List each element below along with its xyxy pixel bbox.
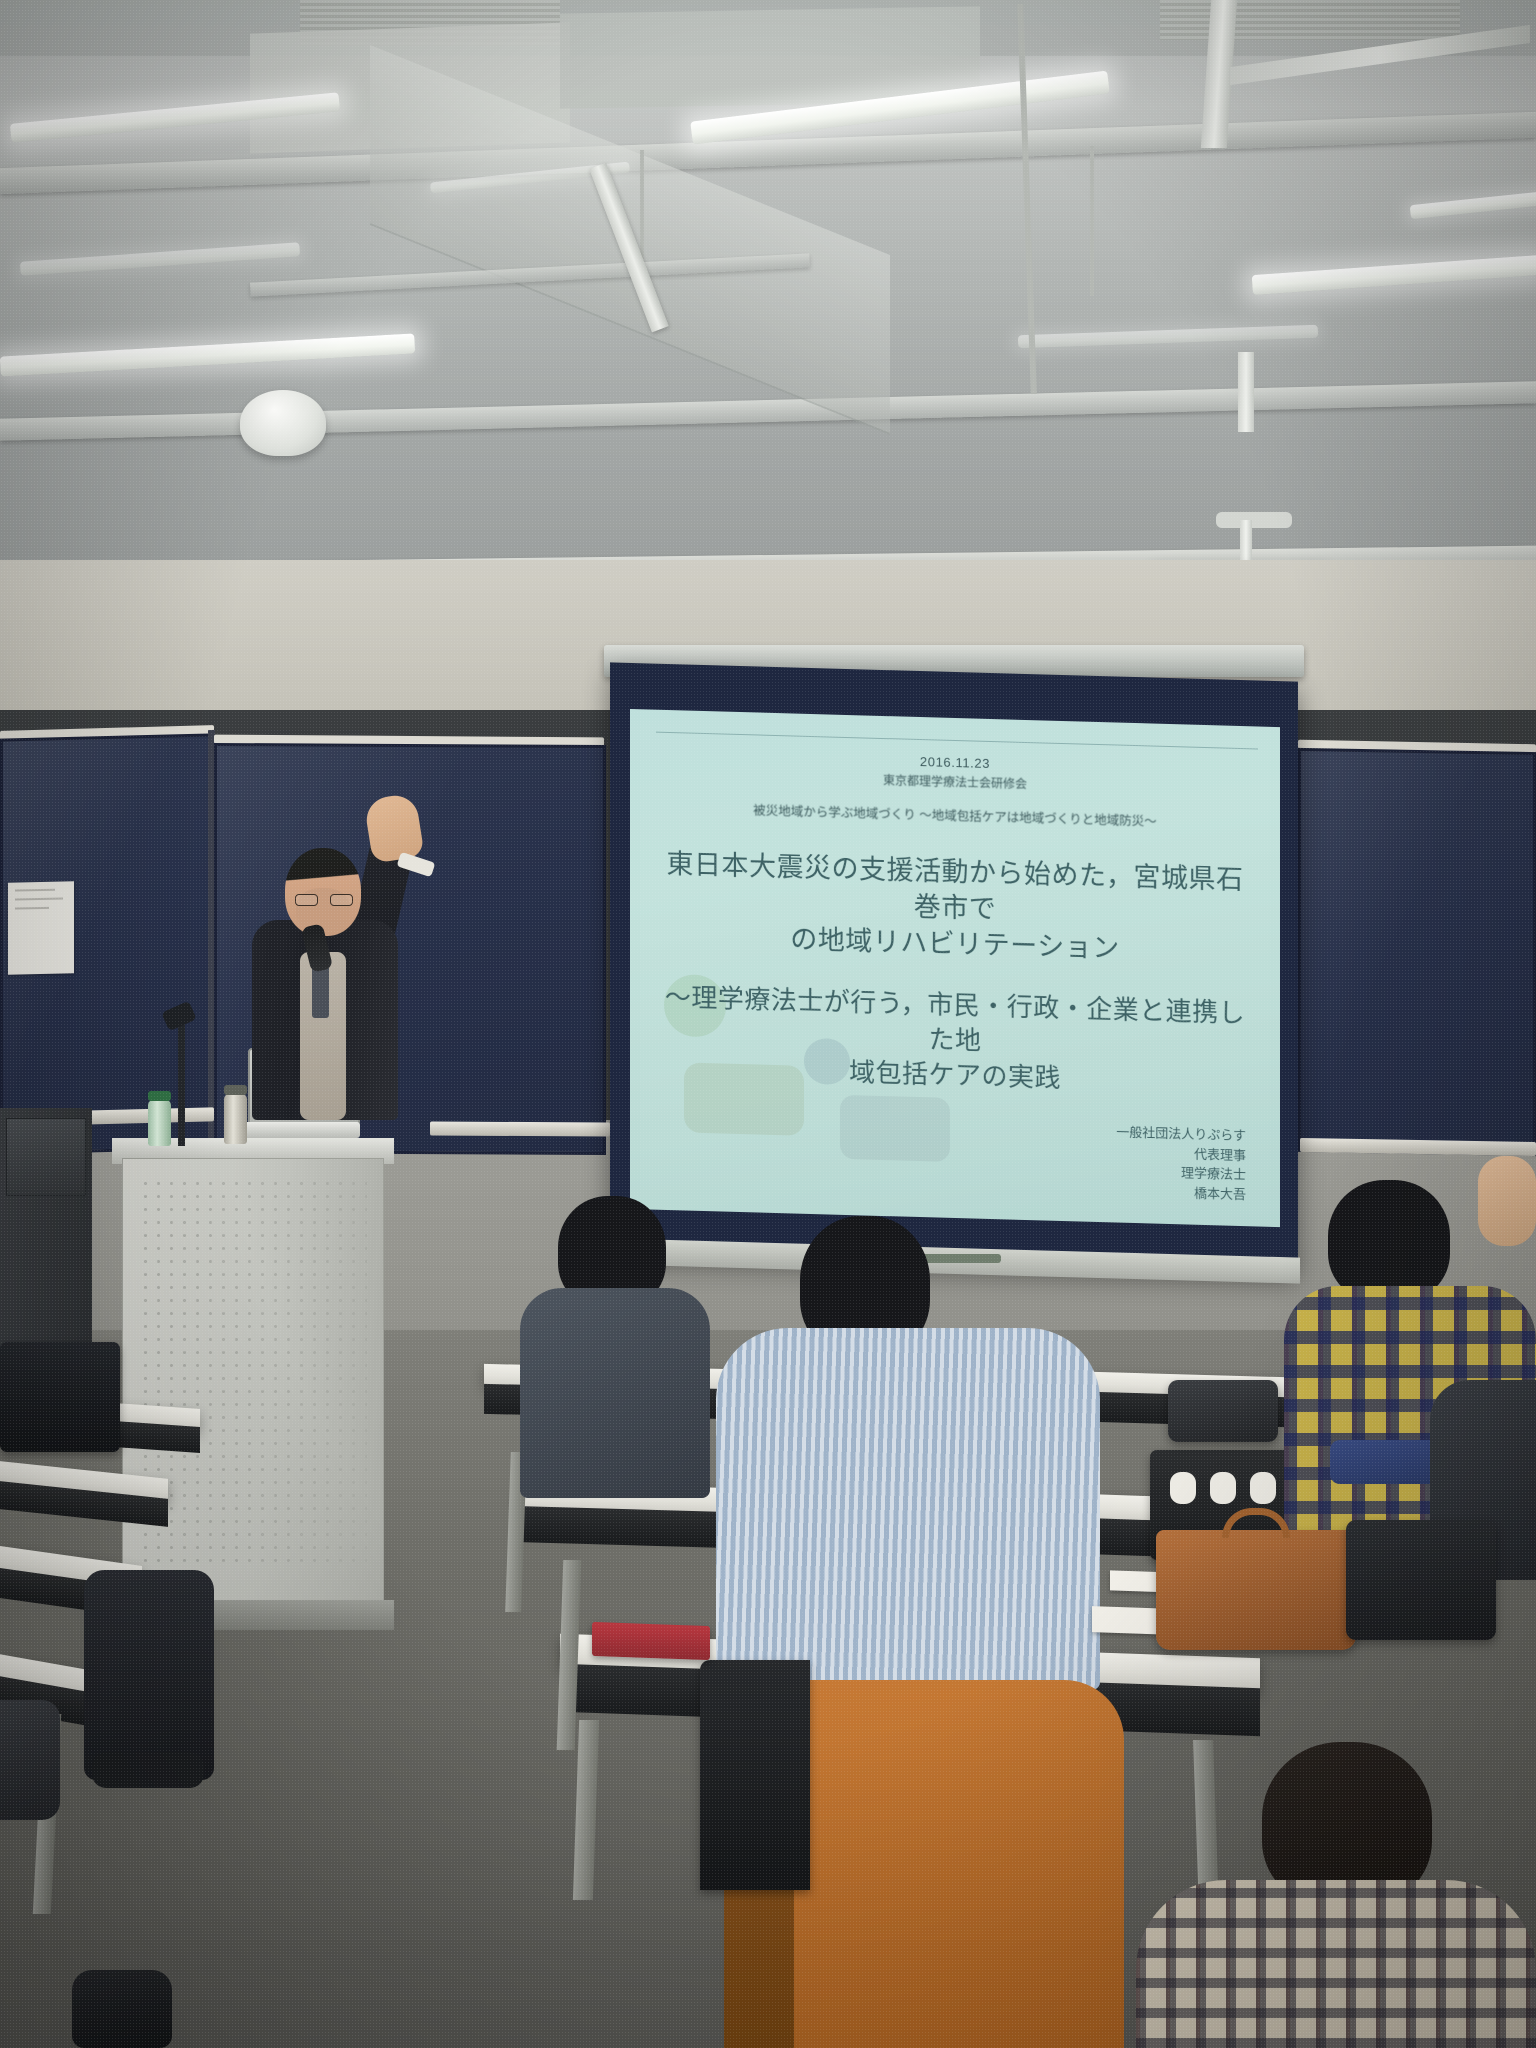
projection-screen: 2016.11.23 東京都理学療法士会研修会 被災地域から学ぶ地域づくり ～地… [610, 662, 1298, 1271]
podium-perforated-panel [139, 1177, 367, 1571]
credit-organization: 一般社団法人りぷらす [1116, 1123, 1246, 1146]
notice-line [15, 907, 49, 910]
backpack-strap [92, 1752, 204, 1788]
glasses-left-lens [295, 894, 318, 906]
projector-mount [1216, 512, 1292, 528]
chalkboard-right [1298, 748, 1536, 1156]
projector-arm [1238, 352, 1254, 432]
audience-torso [716, 1328, 1100, 1690]
water-bottle-1 [148, 1100, 171, 1146]
credit-name: 橋本大吾 [1116, 1181, 1246, 1204]
notice-line [15, 898, 63, 901]
projector-drop-pole [1240, 520, 1252, 560]
backpack[interactable] [84, 1570, 214, 1780]
cabinet-panel [6, 1118, 86, 1196]
podium-cabinet [122, 1158, 384, 1628]
chalk-rail-center [430, 1122, 610, 1137]
audience-head [1328, 1180, 1450, 1302]
chair-back-hole [1210, 1472, 1236, 1504]
glasses-icon [295, 894, 353, 906]
audience-torso [520, 1288, 710, 1498]
slide-subtitle-block: ～理学療法士が行う，市民・行政・企業と連携した地 域包括ケアの実践 [656, 980, 1254, 1101]
presentation-slide: 2016.11.23 東京都理学療法士会研修会 被災地域から学ぶ地域づくり ～地… [630, 709, 1280, 1227]
chair-left-foreground[interactable] [0, 1342, 120, 1452]
presenter-laptop-keyboard[interactable] [232, 1122, 360, 1138]
slide-hairline [656, 732, 1258, 750]
wall-notice-paper [8, 881, 74, 974]
bottle-cap [224, 1085, 247, 1095]
audience-raised-hand [1478, 1156, 1536, 1246]
handbag[interactable] [1156, 1530, 1356, 1650]
water-bottle-2 [224, 1094, 247, 1144]
slide-subtitle: 被災地域から学ぶ地域づくり ～地域包括ケアは地域づくりと地域防災～ [656, 797, 1254, 833]
bottle-cap [148, 1091, 171, 1101]
red-folder[interactable] [592, 1622, 710, 1660]
ceiling-speaker-dome [240, 390, 326, 456]
screen-surface: 2016.11.23 東京都理学療法士会研修会 被災地域から学ぶ地域づくり ～地… [630, 709, 1280, 1227]
ceiling-vent-grille-right [1160, 0, 1460, 40]
ceiling-hanger-rod-3 [1090, 146, 1094, 296]
slide-title-block: 東日本大震災の支援活動から始めた，宮城県石巻市で の地域リハビリテーション [656, 846, 1254, 971]
small-bag[interactable] [1168, 1380, 1278, 1442]
glasses-right-lens [330, 894, 353, 906]
audience-blue-item [1330, 1440, 1440, 1484]
chair-back-hole [1170, 1472, 1196, 1504]
slide-credits: 一般社団法人りぷらす 代表理事 理学療法士 橋本大吾 [1116, 1123, 1246, 1205]
audience-torso [1136, 1880, 1536, 2048]
dark-bag[interactable] [1346, 1520, 1496, 1640]
left-edge-object [0, 1700, 60, 1820]
notice-line [15, 889, 55, 892]
floor-bag[interactable] [72, 1970, 172, 2048]
chair-back-hole [1250, 1472, 1276, 1504]
chair-foreground-center[interactable] [700, 1660, 810, 1890]
lecture-hall-photo: 2016.11.23 東京都理学療法士会研修会 被災地域から学ぶ地域づくり ～地… [0, 0, 1536, 2048]
chalkboard-sheen [1301, 751, 1533, 1153]
microphone-stand-pole [178, 1018, 185, 1146]
